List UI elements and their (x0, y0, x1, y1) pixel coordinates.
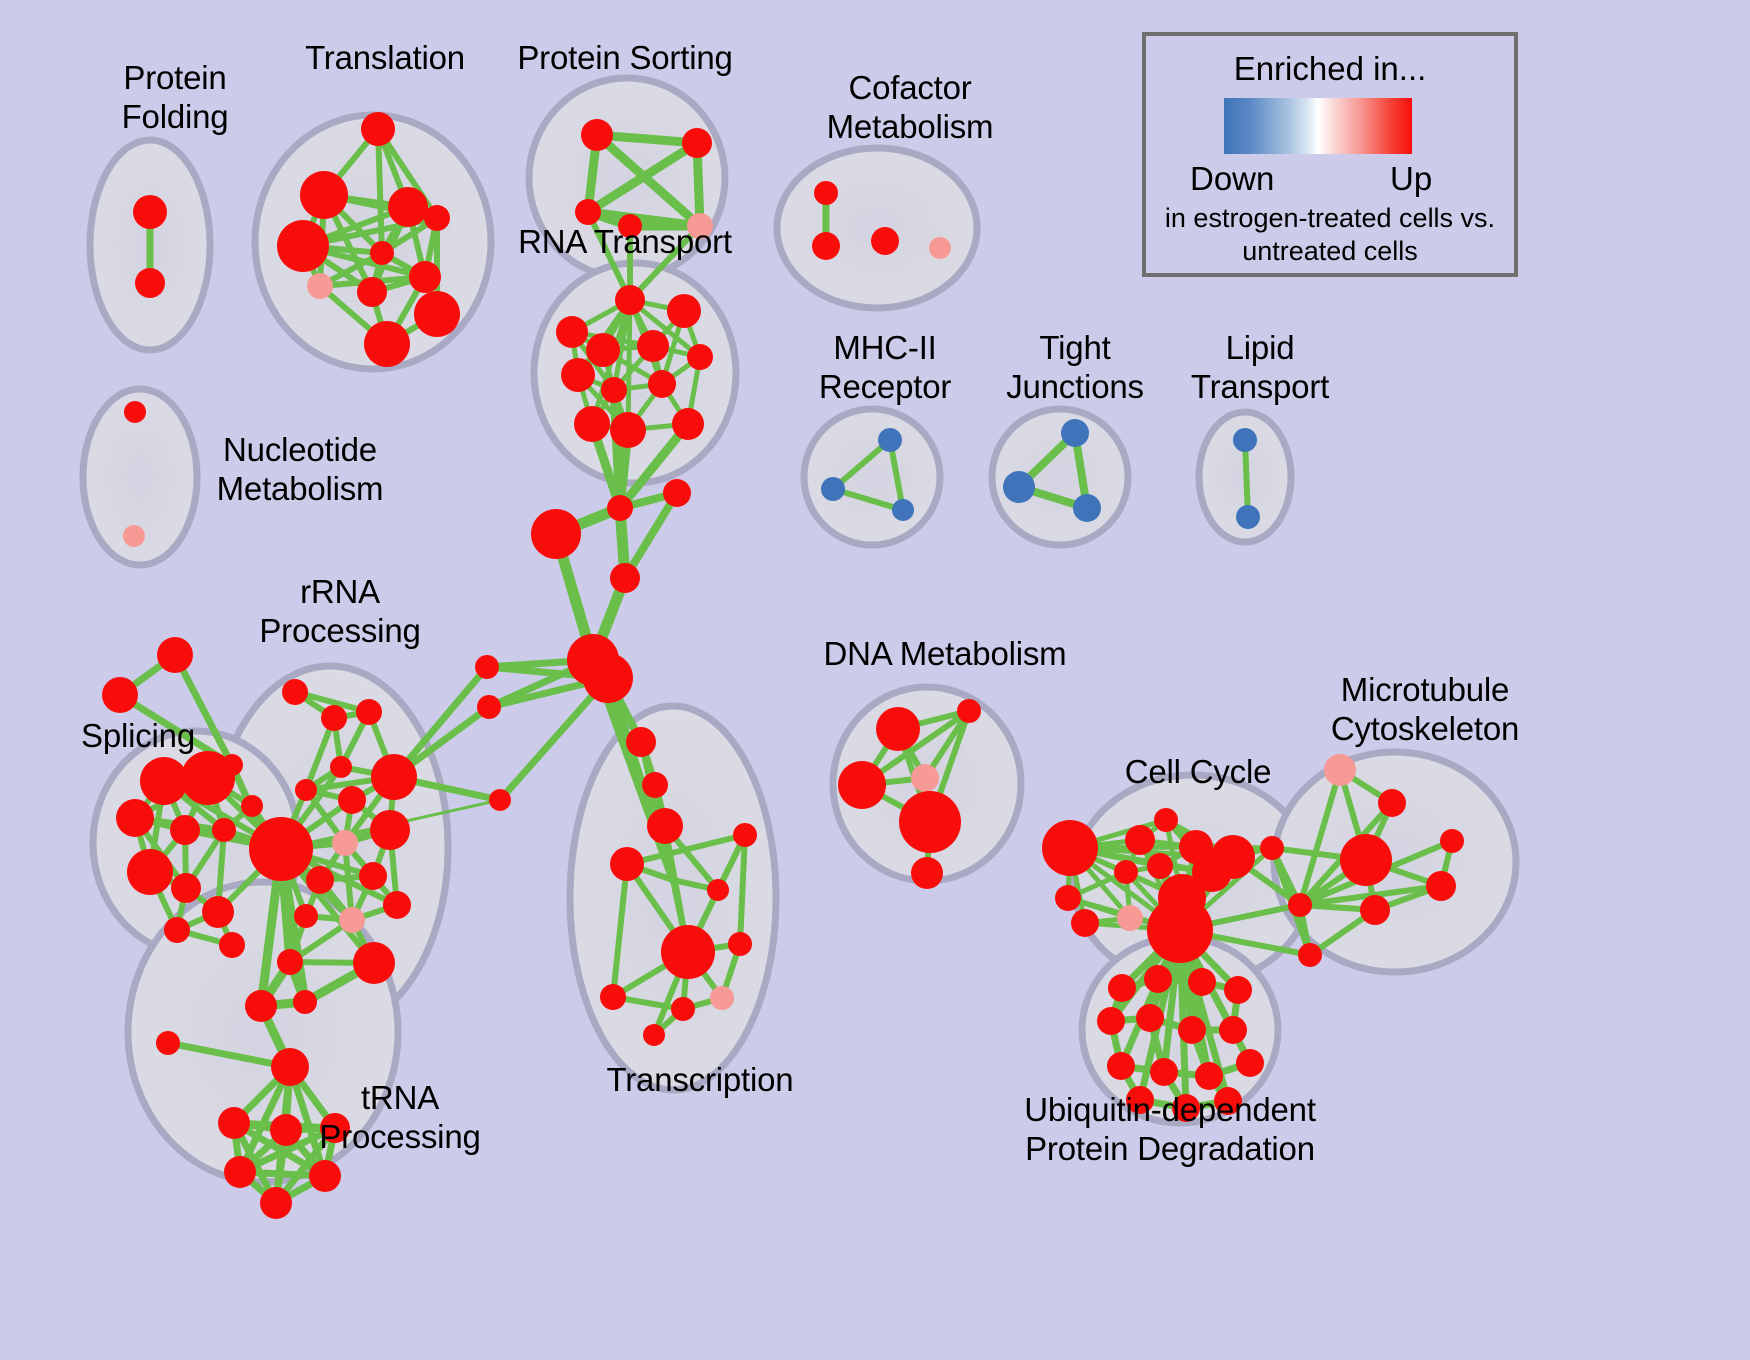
node (574, 406, 610, 442)
node (383, 891, 411, 919)
node (1042, 820, 1098, 876)
legend-panel: Enriched in... Down Up in estrogen-treat… (1142, 32, 1518, 277)
node (293, 990, 317, 1014)
node (876, 707, 920, 751)
node (814, 181, 838, 205)
node (1236, 1049, 1264, 1077)
node (307, 273, 333, 299)
node (219, 932, 245, 958)
node (1144, 965, 1172, 993)
node (1154, 808, 1178, 832)
node (812, 232, 840, 260)
node (1108, 974, 1136, 1002)
node (332, 830, 358, 856)
node (338, 786, 366, 814)
node (1061, 419, 1089, 447)
node (1147, 853, 1173, 879)
node (181, 751, 235, 805)
node (277, 949, 303, 975)
node (601, 377, 627, 403)
legend-low-label: Down (1190, 160, 1274, 198)
node (370, 241, 394, 265)
node (361, 112, 395, 146)
cluster-label-mhc-ii-receptor: MHC-II Receptor (790, 328, 980, 406)
cluster-label-protein-folding: Protein Folding (80, 58, 270, 136)
node (1360, 895, 1390, 925)
node (294, 904, 318, 928)
cluster-label-microtubule-cytoskeleton: Microtubule Cytoskeleton (1300, 670, 1550, 748)
cluster-label-tight-junctions: Tight Junctions (980, 328, 1170, 406)
cluster-label-nucleotide-metabolism: Nucleotide Metabolism (185, 430, 415, 508)
cluster-label-lipid-transport: Lipid Transport (1165, 328, 1355, 406)
node (707, 879, 729, 901)
node (647, 808, 683, 844)
cluster-label-rrna-processing: rRNA Processing (245, 572, 435, 650)
node (245, 990, 277, 1022)
node (124, 401, 146, 423)
node (911, 857, 943, 889)
node (359, 862, 387, 890)
node (610, 563, 640, 593)
node (637, 330, 669, 362)
node (1147, 897, 1213, 963)
node (357, 277, 387, 307)
node (1288, 893, 1312, 917)
node (1114, 860, 1138, 884)
cluster-label-cell-cycle: Cell Cycle (1098, 752, 1298, 791)
node (371, 754, 417, 800)
node (1003, 471, 1035, 503)
node (133, 195, 167, 229)
node (1219, 1016, 1247, 1044)
node (116, 799, 154, 837)
node (671, 997, 695, 1021)
node (224, 1156, 256, 1188)
node (1260, 836, 1284, 860)
node (170, 815, 200, 845)
node (202, 896, 234, 928)
node (583, 653, 633, 703)
enrichment-map-figure: Protein Folding Translation Protein Sort… (0, 0, 1750, 1360)
node (1136, 1004, 1164, 1032)
blob-cofactor (777, 148, 977, 308)
cluster-label-rna-transport: RNA Transport (495, 222, 755, 261)
cluster-label-protein-sorting: Protein Sorting (495, 38, 755, 77)
node (1224, 976, 1252, 1004)
node (710, 986, 734, 1010)
node (1188, 968, 1216, 996)
node (1440, 829, 1464, 853)
node (531, 509, 581, 559)
node (672, 408, 704, 440)
node (164, 917, 190, 943)
node (171, 873, 201, 903)
blob-mhc-ii (804, 409, 940, 545)
node (733, 823, 757, 847)
node (1071, 909, 1099, 937)
node (277, 220, 329, 272)
node (1298, 943, 1322, 967)
node (321, 705, 347, 731)
node (356, 699, 382, 725)
cluster-label-cofactor-metabolism: Cofactor Metabolism (795, 68, 1025, 146)
node (295, 779, 317, 801)
node (1324, 754, 1356, 786)
node (1426, 871, 1456, 901)
legend-title: Enriched in... (1146, 50, 1514, 88)
node (409, 261, 441, 293)
node (477, 695, 501, 719)
node (556, 316, 588, 348)
node (309, 1160, 341, 1192)
node (140, 757, 188, 805)
node (414, 291, 460, 337)
node (687, 344, 713, 370)
node (424, 205, 450, 231)
color-scale-gradient (1224, 98, 1412, 154)
node (682, 128, 712, 158)
node (370, 810, 410, 850)
node (306, 866, 334, 894)
node (353, 942, 395, 984)
cluster-label-translation: Translation (270, 38, 500, 77)
node (102, 677, 138, 713)
legend-subtitle: in estrogen-treated cells vs. untreated … (1146, 202, 1514, 268)
node (821, 477, 845, 501)
node (1125, 825, 1155, 855)
node (475, 655, 499, 679)
node (892, 499, 914, 521)
cluster-label-splicing: Splicing (58, 716, 218, 755)
node (157, 637, 193, 673)
node (489, 789, 511, 811)
node (899, 791, 961, 853)
node (1117, 905, 1143, 931)
node (878, 428, 902, 452)
node (330, 756, 352, 778)
node (667, 294, 701, 328)
node (663, 479, 691, 507)
node (610, 847, 644, 881)
node (642, 772, 668, 798)
cluster-label-transcription: Transcription (570, 1060, 830, 1099)
node (270, 1114, 302, 1146)
node (282, 679, 308, 705)
node (1073, 494, 1101, 522)
node (600, 984, 626, 1010)
node (1055, 885, 1081, 911)
node (388, 187, 428, 227)
node (728, 932, 752, 956)
legend-high-label: Up (1390, 160, 1432, 198)
node (218, 1107, 250, 1139)
node (661, 925, 715, 979)
node (300, 171, 348, 219)
node (135, 268, 165, 298)
node (607, 495, 633, 521)
node (615, 285, 645, 315)
node (561, 358, 595, 392)
node (871, 227, 899, 255)
node (1107, 1052, 1135, 1080)
node (643, 1024, 665, 1046)
node (156, 1031, 180, 1055)
node (364, 321, 410, 367)
node (929, 237, 951, 259)
cluster-label-ubiquitin-degradation: Ubiquitin-dependent Protein Degradation (980, 1090, 1360, 1168)
node (1195, 1062, 1223, 1090)
node (1340, 834, 1392, 886)
node (610, 412, 646, 448)
node (260, 1187, 292, 1219)
node (127, 849, 173, 895)
node (957, 699, 981, 723)
node (911, 764, 939, 792)
cluster-label-trna-processing: tRNA Processing (300, 1078, 500, 1156)
node (339, 907, 365, 933)
node (1378, 789, 1406, 817)
node (241, 795, 263, 817)
node (838, 761, 886, 809)
node (212, 818, 236, 842)
node (626, 727, 656, 757)
node (1150, 1058, 1178, 1086)
node (1178, 1016, 1206, 1044)
node (123, 525, 145, 547)
node (1097, 1007, 1125, 1035)
node (1233, 428, 1257, 452)
node (648, 370, 676, 398)
node (581, 119, 613, 151)
node (586, 333, 620, 367)
cluster-label-dna-metabolism: DNA Metabolism (810, 634, 1080, 673)
node (249, 817, 313, 881)
node (1236, 505, 1260, 529)
